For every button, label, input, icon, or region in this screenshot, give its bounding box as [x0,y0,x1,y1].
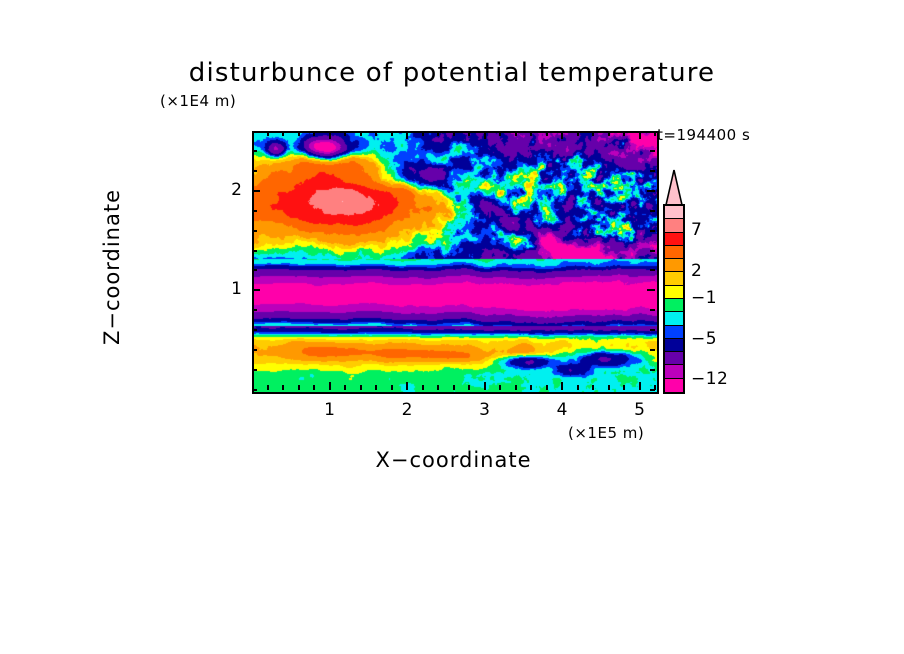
colorbar-band [665,219,683,232]
x-axis-title: X−coordinate [252,448,655,472]
colorbar-arrow-tip [663,168,685,206]
colorbar-band [665,339,683,352]
colorbar-band [665,286,683,299]
colorbar-band [665,326,683,339]
y-tick-label: 1 [218,279,242,299]
colorbar-band [665,259,683,272]
colorbar-tick-label: 2 [691,261,702,281]
colorbar-band [665,299,683,312]
colorbar-tick-label: −12 [691,369,728,389]
colorbar-band [665,272,683,285]
colorbar-band [665,365,683,378]
colorbar-band [665,233,683,246]
colorbar-tick-label: 7 [691,220,702,240]
colorbar-bands [663,204,685,394]
y-tick-label: 2 [218,180,242,200]
colorbar-band [665,312,683,325]
colorbar-band [665,379,683,392]
x-axis-unit-label: (×1E5 m) [568,424,644,442]
colorbar-tick-label: −5 [691,329,717,349]
y-axis-title: Z−coordinate [100,137,124,397]
y-axis-tick-labels: 12 [0,0,904,654]
colorbar-legend: 72−1−5−12 [663,168,685,394]
colorbar-band [665,352,683,365]
colorbar-band [665,206,683,219]
colorbar-band [665,246,683,259]
colorbar-tick-label: −1 [691,288,717,308]
